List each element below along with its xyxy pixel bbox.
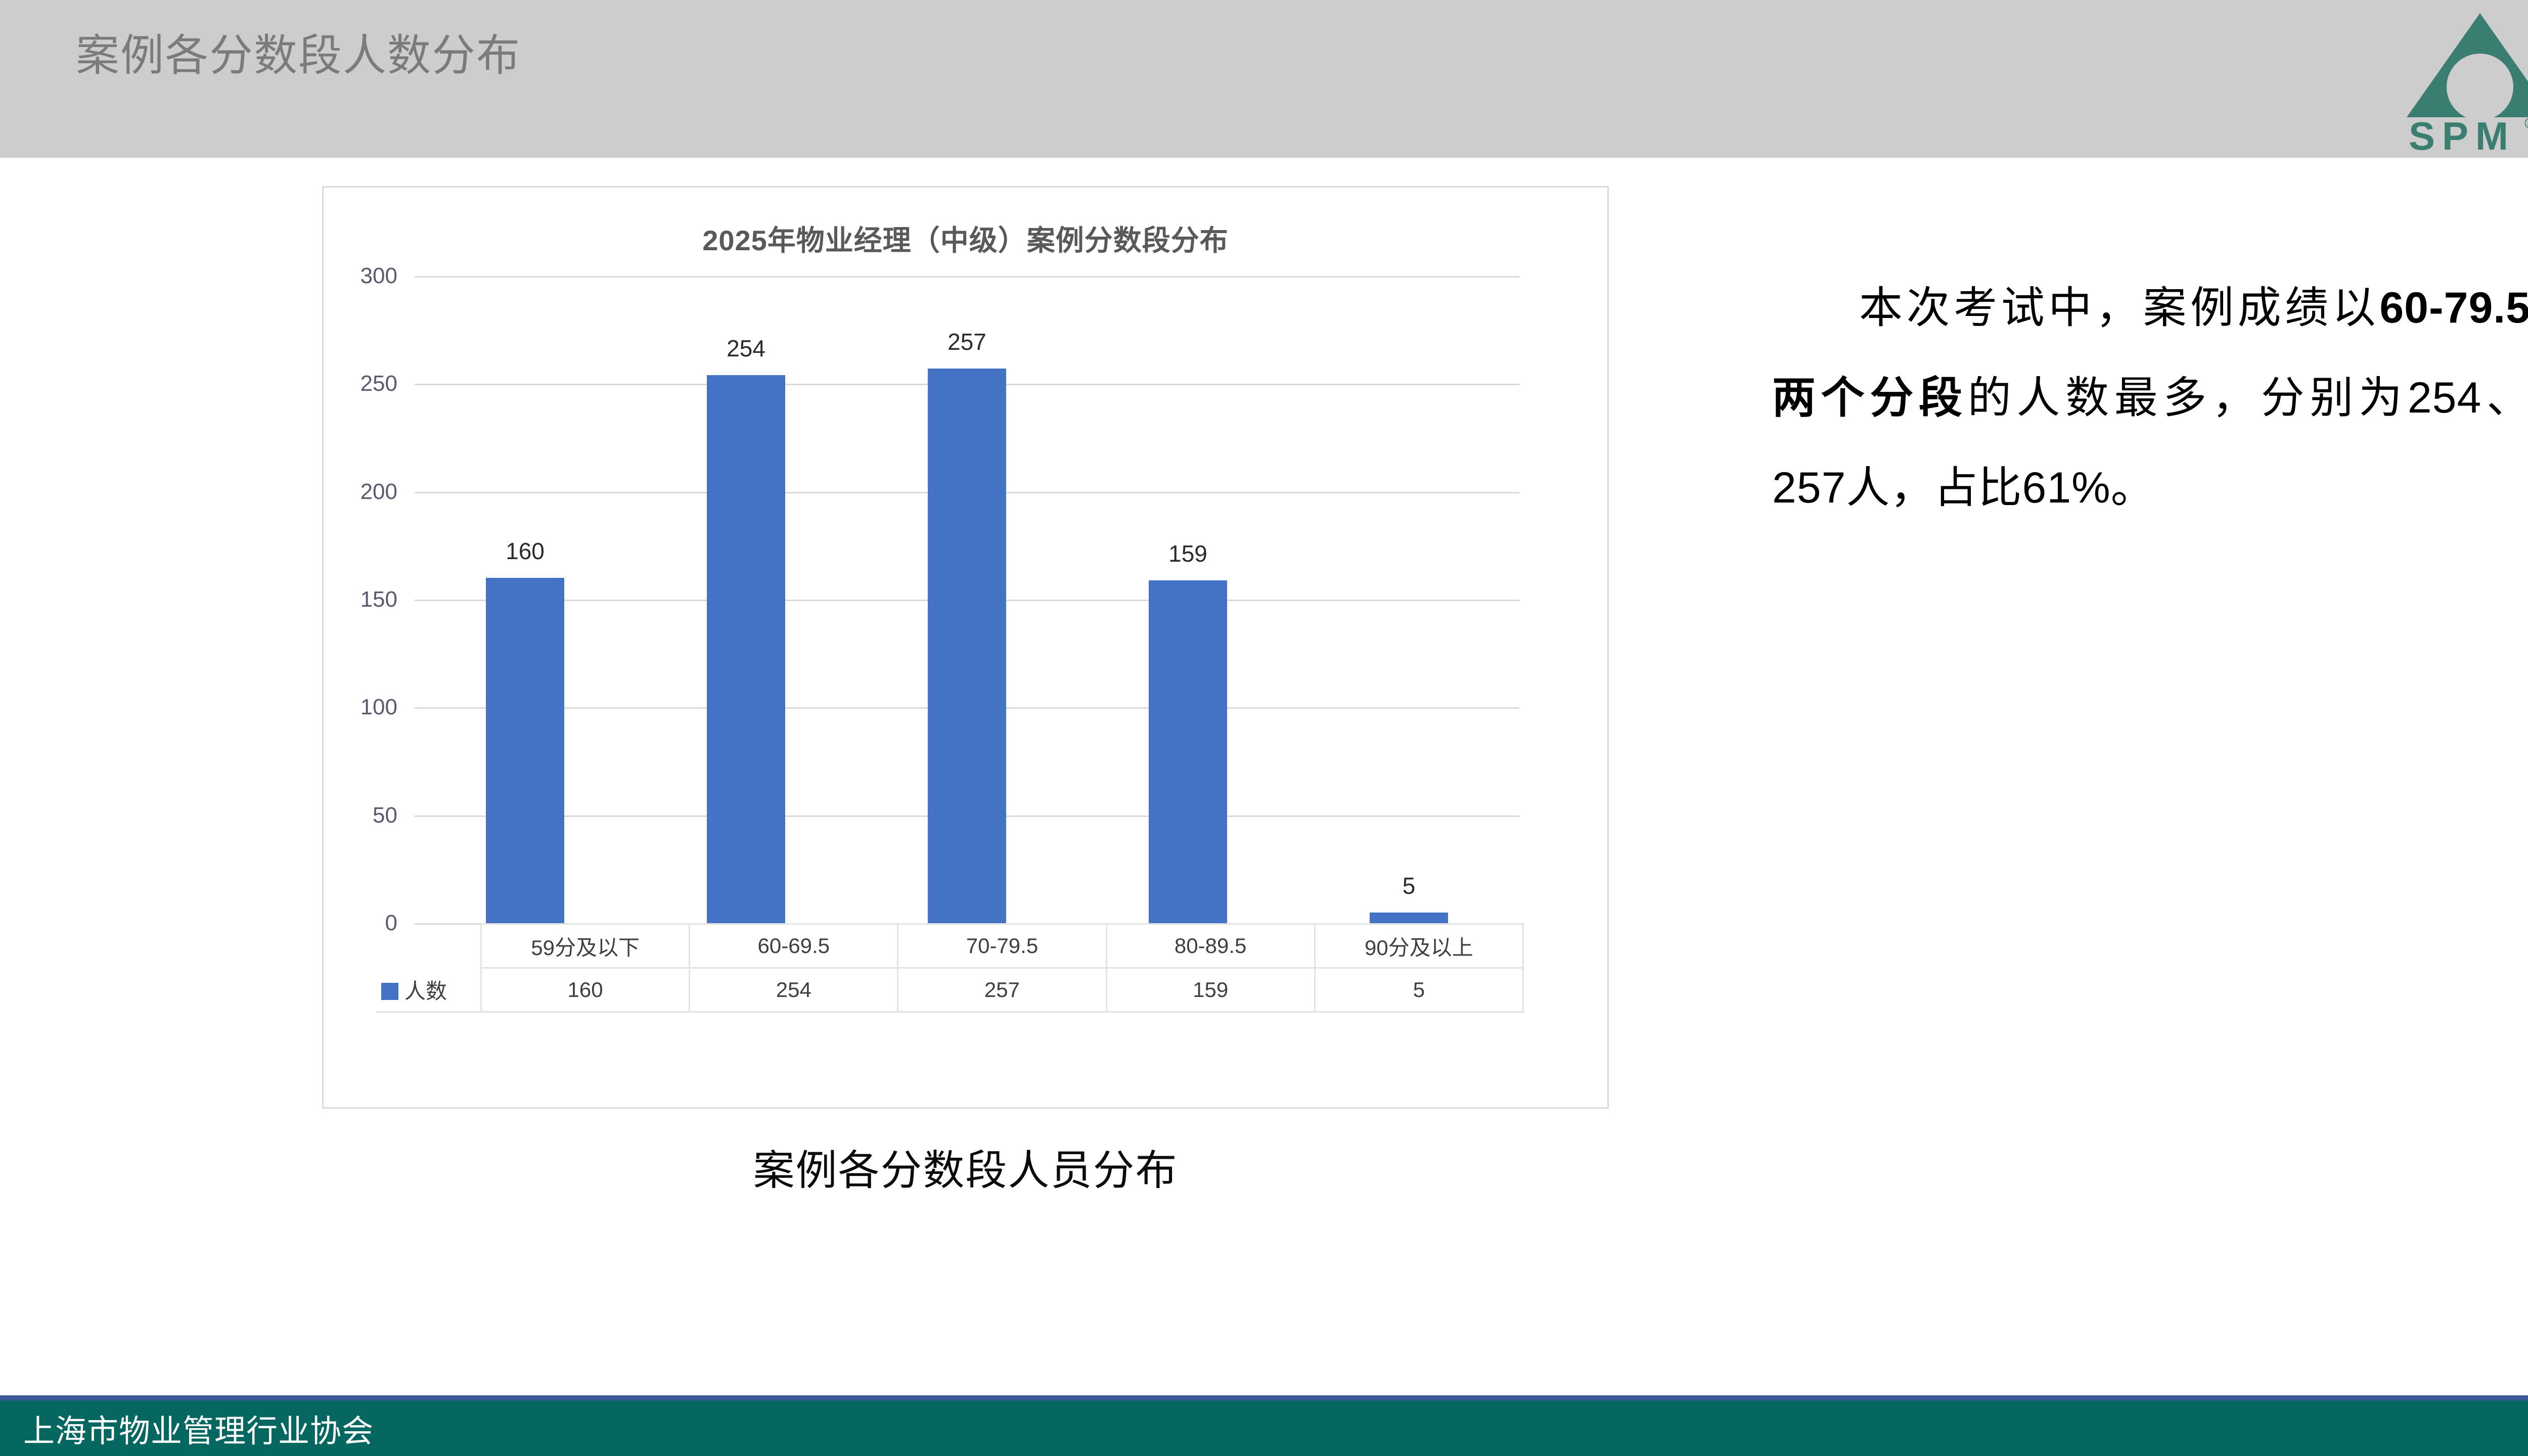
bar-slot: 254 <box>636 276 856 923</box>
spm-logo-icon: SPM ® <box>2402 7 2528 154</box>
bar-value-label: 160 <box>506 537 545 565</box>
table-corner-cell <box>376 924 481 968</box>
chart-caption: 案例各分数段人员分布 <box>322 1136 1609 1197</box>
bar-59fenjiyixia[interactable]: 160 <box>486 578 564 923</box>
registered-mark: ® <box>2524 115 2528 132</box>
bar-60-69-5[interactable]: 254 <box>707 375 785 923</box>
y-axis-tick-250: 250 <box>360 371 397 396</box>
table-cell-category: 70-79.5 <box>898 924 1106 968</box>
y-axis-tick-300: 300 <box>360 263 397 289</box>
legend-entry: 人数 <box>376 968 481 1012</box>
bar-90fenjiyishang[interactable]: 5 <box>1370 913 1448 923</box>
page-title: 案例各分数段人数分布 <box>76 25 521 86</box>
bar-70-79-5[interactable]: 257 <box>928 369 1006 923</box>
chart-title: 2025年物业经理（中级）案例分数段分布 <box>324 218 1607 259</box>
table-cell-value: 257 <box>898 968 1106 1012</box>
table-cell-value: 5 <box>1315 968 1523 1012</box>
table-cell-value: 254 <box>690 968 898 1012</box>
slide-header: 案例各分数段人数分布 SPM ® <box>0 0 2528 158</box>
legend-label: 人数 <box>404 979 447 1003</box>
bar-80-89-5[interactable]: 159 <box>1149 580 1227 923</box>
table-cell-value: 160 <box>481 968 690 1012</box>
table-row-values: 人数 160 254 257 159 5 <box>376 968 1523 1012</box>
y-axis-tick-100: 100 <box>360 695 397 720</box>
y-axis-tick-150: 150 <box>360 587 397 612</box>
y-axis-tick-200: 200 <box>360 479 397 505</box>
legend-swatch-icon <box>381 983 398 1000</box>
chart-card: 2025年物业经理（中级）案例分数段分布 300 250 200 150 100… <box>322 186 1609 1109</box>
bar-slot: 159 <box>1077 276 1298 923</box>
slide-footer: 上海市物业管理行业协会 3 <box>0 1395 2528 1456</box>
table-row-categories: 59分及以下 60-69.5 70-79.5 80-89.5 90分及以上 <box>376 924 1523 968</box>
bar-value-label: 5 <box>1403 872 1416 899</box>
bar-value-label: 257 <box>947 328 986 355</box>
bar-slot: 160 <box>415 276 636 923</box>
bar-value-label: 254 <box>727 335 765 362</box>
table-cell-value: 159 <box>1106 968 1315 1012</box>
table-cell-category: 59分及以下 <box>481 924 690 968</box>
bar-value-label: 159 <box>1168 540 1207 567</box>
y-axis-tick-50: 50 <box>373 803 397 828</box>
spm-wordmark: SPM <box>2409 114 2515 154</box>
table-cell-category: 60-69.5 <box>690 924 898 968</box>
commentary-lead: 本次考试中，案例成绩以 <box>1859 284 2379 332</box>
bar-series: 160 254 257 159 5 <box>415 276 1519 923</box>
footer-organization: 上海市物业管理行业协会 <box>23 1405 374 1451</box>
table-cell-category: 90分及以上 <box>1315 924 1523 968</box>
commentary-text: 本次考试中，案例成绩以60-79.5两个分段的人数最多，分别为254、257人，… <box>1772 263 2528 533</box>
spm-logo: SPM ® <box>2402 7 2528 154</box>
bar-slot: 5 <box>1298 276 1519 923</box>
chart-data-table: 59分及以下 60-69.5 70-79.5 80-89.5 90分及以上 人数… <box>376 923 1524 1013</box>
bar-slot: 257 <box>856 276 1077 923</box>
table-cell-category: 80-89.5 <box>1106 924 1315 968</box>
chart-plot-area: 300 250 200 150 100 50 0 160 <box>415 276 1519 923</box>
